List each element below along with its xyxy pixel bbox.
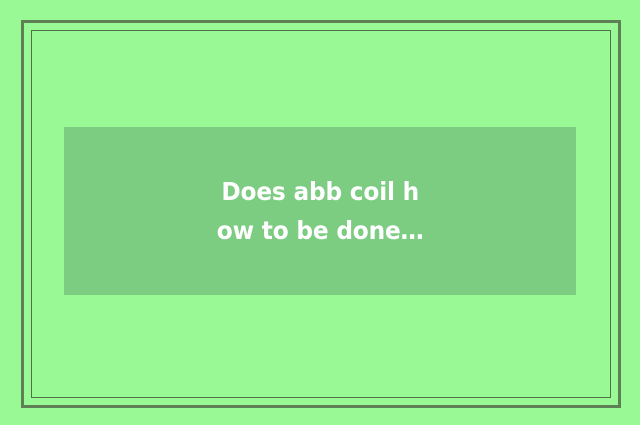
banner-text-line-1: Does abb coil h	[221, 172, 419, 211]
banner-text-block: Does abb coil h ow to be done…	[64, 127, 576, 295]
text-banner-panel: Does abb coil h ow to be done…	[64, 127, 576, 295]
banner-text-line-2: ow to be done…	[217, 211, 424, 250]
screenshot-canvas: Does abb coil h ow to be done…	[0, 0, 640, 425]
